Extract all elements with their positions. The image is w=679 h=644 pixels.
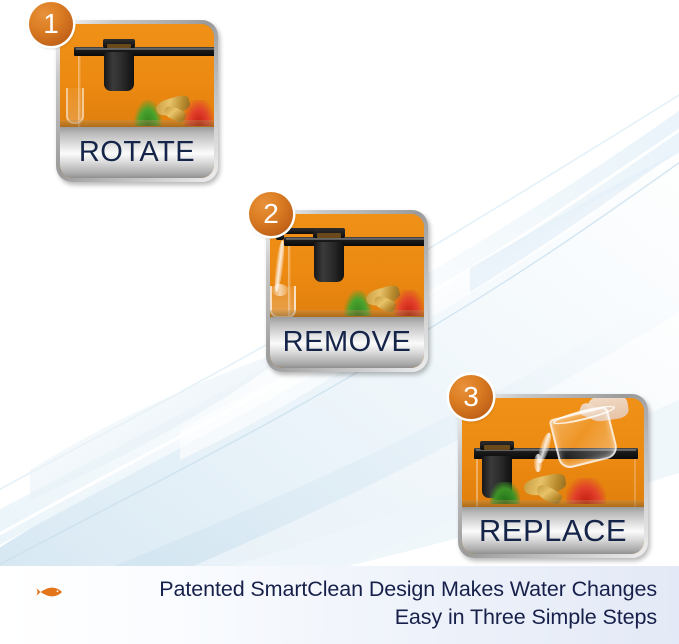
gravel-substrate xyxy=(462,500,644,507)
step-label-2: REMOVE xyxy=(283,328,412,357)
step-panel-1[interactable]: ROTATE 1 xyxy=(56,20,218,182)
panel-inner-2: REMOVE xyxy=(270,214,424,368)
step-panel-3[interactable]: REPLACE 3 xyxy=(458,394,648,558)
filter-media-slot xyxy=(107,44,131,48)
tank-rim xyxy=(284,237,424,246)
step-panel-2[interactable]: REMOVE 2 xyxy=(266,210,428,372)
gravel-substrate xyxy=(270,310,424,317)
step-badge-2[interactable]: 2 xyxy=(249,192,293,236)
filter-cartridge xyxy=(314,242,344,282)
step-badge-1[interactable]: 1 xyxy=(29,2,73,46)
tank-rim xyxy=(74,47,214,56)
label-band-1: ROTATE xyxy=(60,127,214,178)
water-stream-lower xyxy=(534,454,542,472)
label-band-3: REPLACE xyxy=(462,507,644,554)
fish-icon xyxy=(36,585,64,599)
step-number-2: 2 xyxy=(263,198,279,230)
panel-inner-3: REPLACE xyxy=(462,398,644,554)
filter-media-slot xyxy=(317,233,341,238)
gravel-substrate xyxy=(60,120,214,127)
step-badge-3[interactable]: 3 xyxy=(449,375,493,419)
step-number-3: 3 xyxy=(463,381,479,413)
caption-bar: Patented SmartClean Design Makes Water C… xyxy=(0,566,679,644)
panel-inner-1: ROTATE xyxy=(60,24,214,178)
step-label-1: ROTATE xyxy=(79,138,195,167)
beaker xyxy=(66,88,84,124)
aquarium-scene-3 xyxy=(462,398,644,507)
aquarium-scene-1 xyxy=(60,24,214,127)
step-label-3: REPLACE xyxy=(479,515,627,546)
filter-cartridge xyxy=(104,52,134,91)
caption-text: Patented SmartClean Design Makes Water C… xyxy=(64,575,679,631)
label-band-2: REMOVE xyxy=(270,317,424,368)
filter-media-slot xyxy=(484,445,510,450)
aquarium-scene-2 xyxy=(270,214,424,317)
caption-line-1: Patented SmartClean Design Makes Water C… xyxy=(64,575,657,603)
caption-line-2: Easy in Three Simple Steps xyxy=(64,603,657,631)
step-number-1: 1 xyxy=(43,8,59,40)
